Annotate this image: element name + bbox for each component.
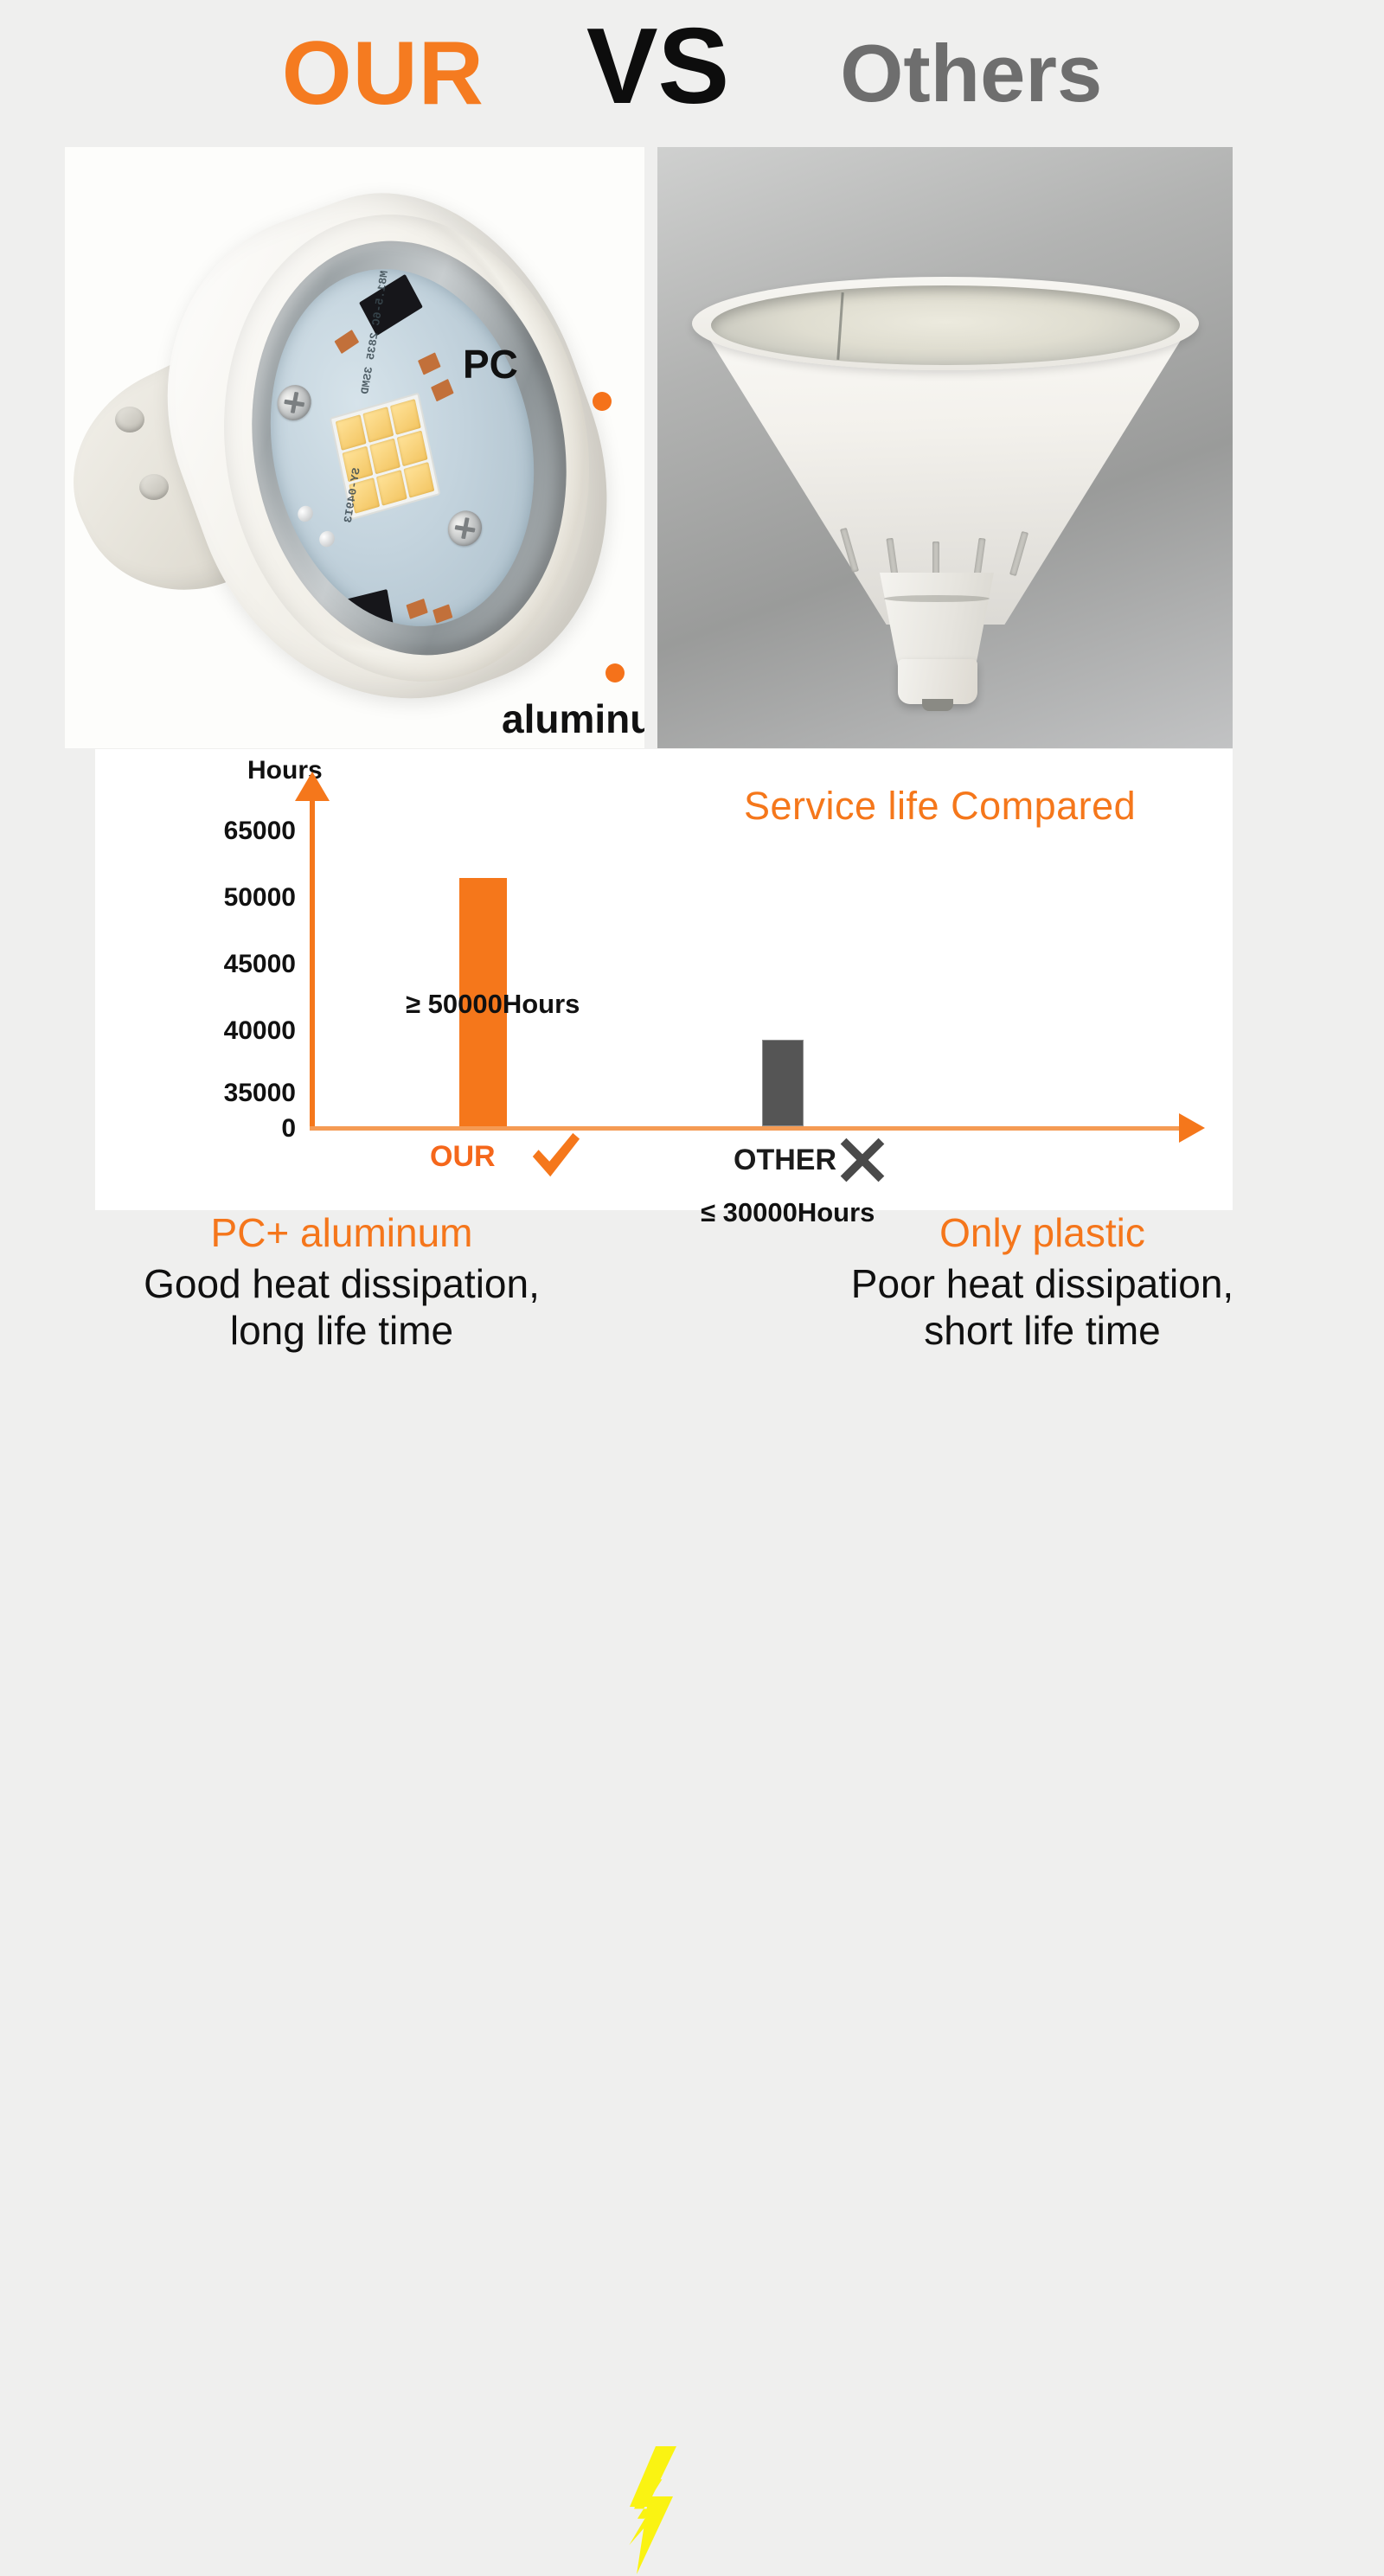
chart-heading: Service life Compared — [744, 784, 1136, 829]
smd-resistor — [431, 379, 454, 401]
header-our-label: OUR — [282, 29, 484, 119]
cone-inner-reflector — [711, 285, 1180, 365]
product-photo-row: M81.5-6C 2835 3SMD SY-049I3 PC aluminum — [65, 147, 1233, 748]
header-others-label: Others — [840, 33, 1102, 114]
footer-other-title: Only plastic — [766, 1211, 1319, 1255]
y-tick-label: 0 — [281, 1114, 296, 1144]
footer-our-title: PC+ aluminum — [65, 1211, 618, 1255]
gu10-pin — [139, 474, 169, 500]
chart-y-axis-line — [310, 799, 315, 1130]
led-emitter — [390, 399, 421, 435]
gu10-pin — [115, 407, 144, 433]
led-emitter — [369, 439, 400, 475]
y-tick-label: 45000 — [224, 950, 296, 979]
chart-x-axis-arrow-icon — [1179, 1113, 1205, 1143]
y-tick-label: 65000 — [224, 817, 296, 846]
y-tick-label: 50000 — [224, 883, 296, 913]
cross-mark-icon — [839, 1137, 886, 1183]
cone-neck-ring — [884, 595, 990, 602]
bar-category-label-other: OTHER — [734, 1144, 836, 1177]
bar-other — [762, 1040, 804, 1126]
pcb-silkscreen-text: M81.5-6C 2835 3SMD — [359, 270, 391, 394]
footer-other-column: Only plastic Poor heat dissipation, shor… — [766, 1211, 1319, 1354]
led-emitter — [376, 470, 407, 506]
footer-other-body: Poor heat dissipation, short life time — [766, 1260, 1319, 1355]
footer-our-column: PC+ aluminum Good heat dissipation, long… — [65, 1211, 618, 1354]
service-life-chart: Hours 65000 50000 45000 40000 35000 0 ≥ … — [95, 749, 1233, 1210]
solder-pad — [296, 503, 315, 524]
cone-cap-tip — [922, 699, 953, 711]
led-emitter — [397, 431, 428, 467]
check-mark-icon — [528, 1128, 581, 1182]
chart-y-axis-arrow-icon — [295, 772, 330, 801]
solder-pad — [317, 529, 336, 549]
led-emitter — [403, 462, 434, 498]
aluminum-marker-dot-icon — [605, 663, 625, 682]
bar-value-label-our: ≥ 50000Hours — [406, 989, 580, 1020]
smd-resistor — [418, 352, 441, 375]
footer-our-body: Good heat dissipation, long life time — [65, 1260, 618, 1355]
led-emitter — [362, 407, 394, 443]
y-tick-label: 35000 — [224, 1079, 296, 1108]
pcb-screw — [273, 380, 316, 425]
infographic-root: OUR VS Others — [0, 0, 1384, 1384]
pcb-screw — [444, 506, 486, 551]
bar-category-label-our: OUR — [430, 1140, 496, 1174]
other-product-photo — [657, 147, 1233, 748]
header-vs-label: VS — [586, 13, 729, 120]
y-tick-label: 40000 — [224, 1016, 296, 1046]
lightning-bolt-icon — [616, 2446, 685, 2576]
smd-resistor — [432, 604, 452, 623]
chart-x-axis-line — [310, 1126, 1183, 1131]
pc-annotation-label: PC — [463, 344, 518, 384]
smd-resistor — [334, 330, 359, 354]
comparison-footer: PC+ aluminum Good heat dissipation, long… — [0, 1211, 1384, 1384]
led-emitter — [336, 414, 367, 451]
comparison-header: OUR VS Others — [0, 19, 1384, 127]
our-product-photo: M81.5-6C 2835 3SMD SY-049I3 PC aluminum — [65, 147, 644, 748]
aluminum-annotation-label: aluminum — [502, 699, 644, 739]
cone-end-cap — [898, 659, 977, 704]
pc-marker-dot-icon — [593, 392, 612, 411]
smd-resistor — [406, 599, 427, 619]
